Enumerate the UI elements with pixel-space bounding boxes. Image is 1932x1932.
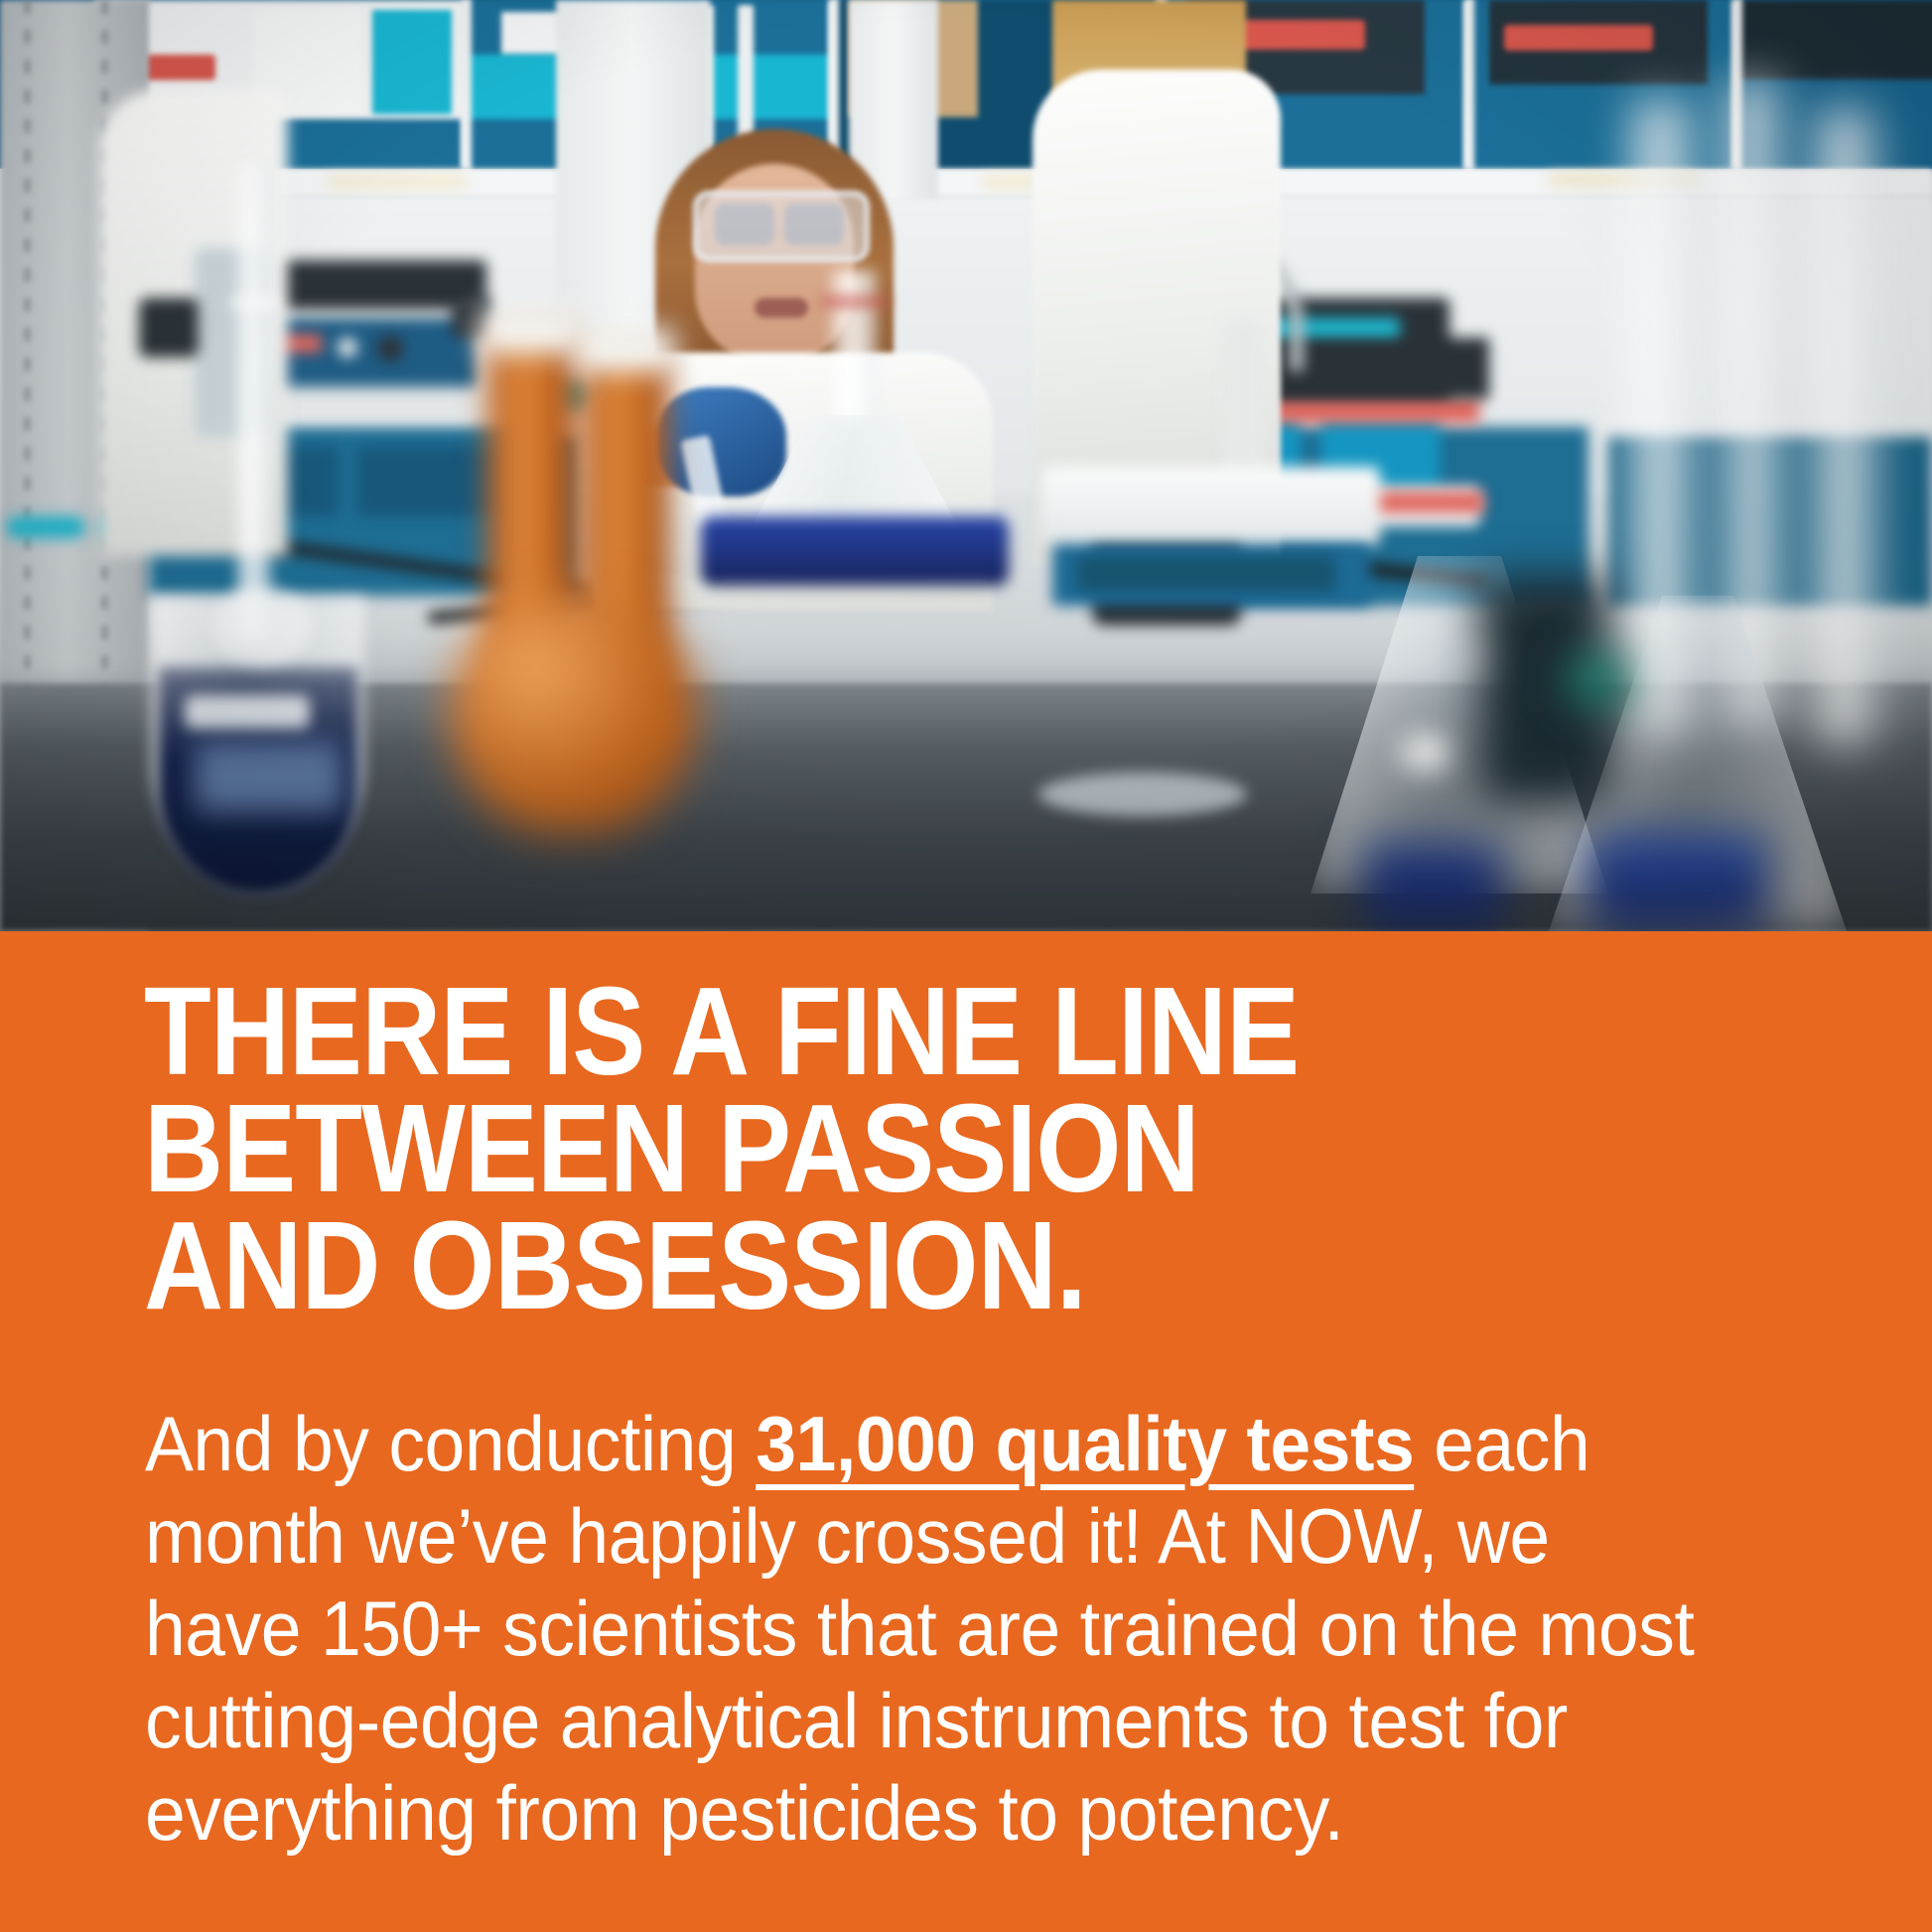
body-paragraph: And by conducting 31,000 quality tests e… <box>145 1398 1713 1860</box>
body-lead-text: And by conducting <box>145 1400 756 1487</box>
promotional-poster: THERE IS A FINE LINE BETWEEN PASSION AND… <box>0 0 1932 1932</box>
lab-photo <box>0 0 1932 931</box>
quality-tests-highlight: 31,000 quality tests <box>756 1400 1414 1487</box>
photo-vignette <box>0 0 1932 931</box>
page-title: THERE IS A FINE LINE BETWEEN PASSION AND… <box>144 973 1629 1324</box>
